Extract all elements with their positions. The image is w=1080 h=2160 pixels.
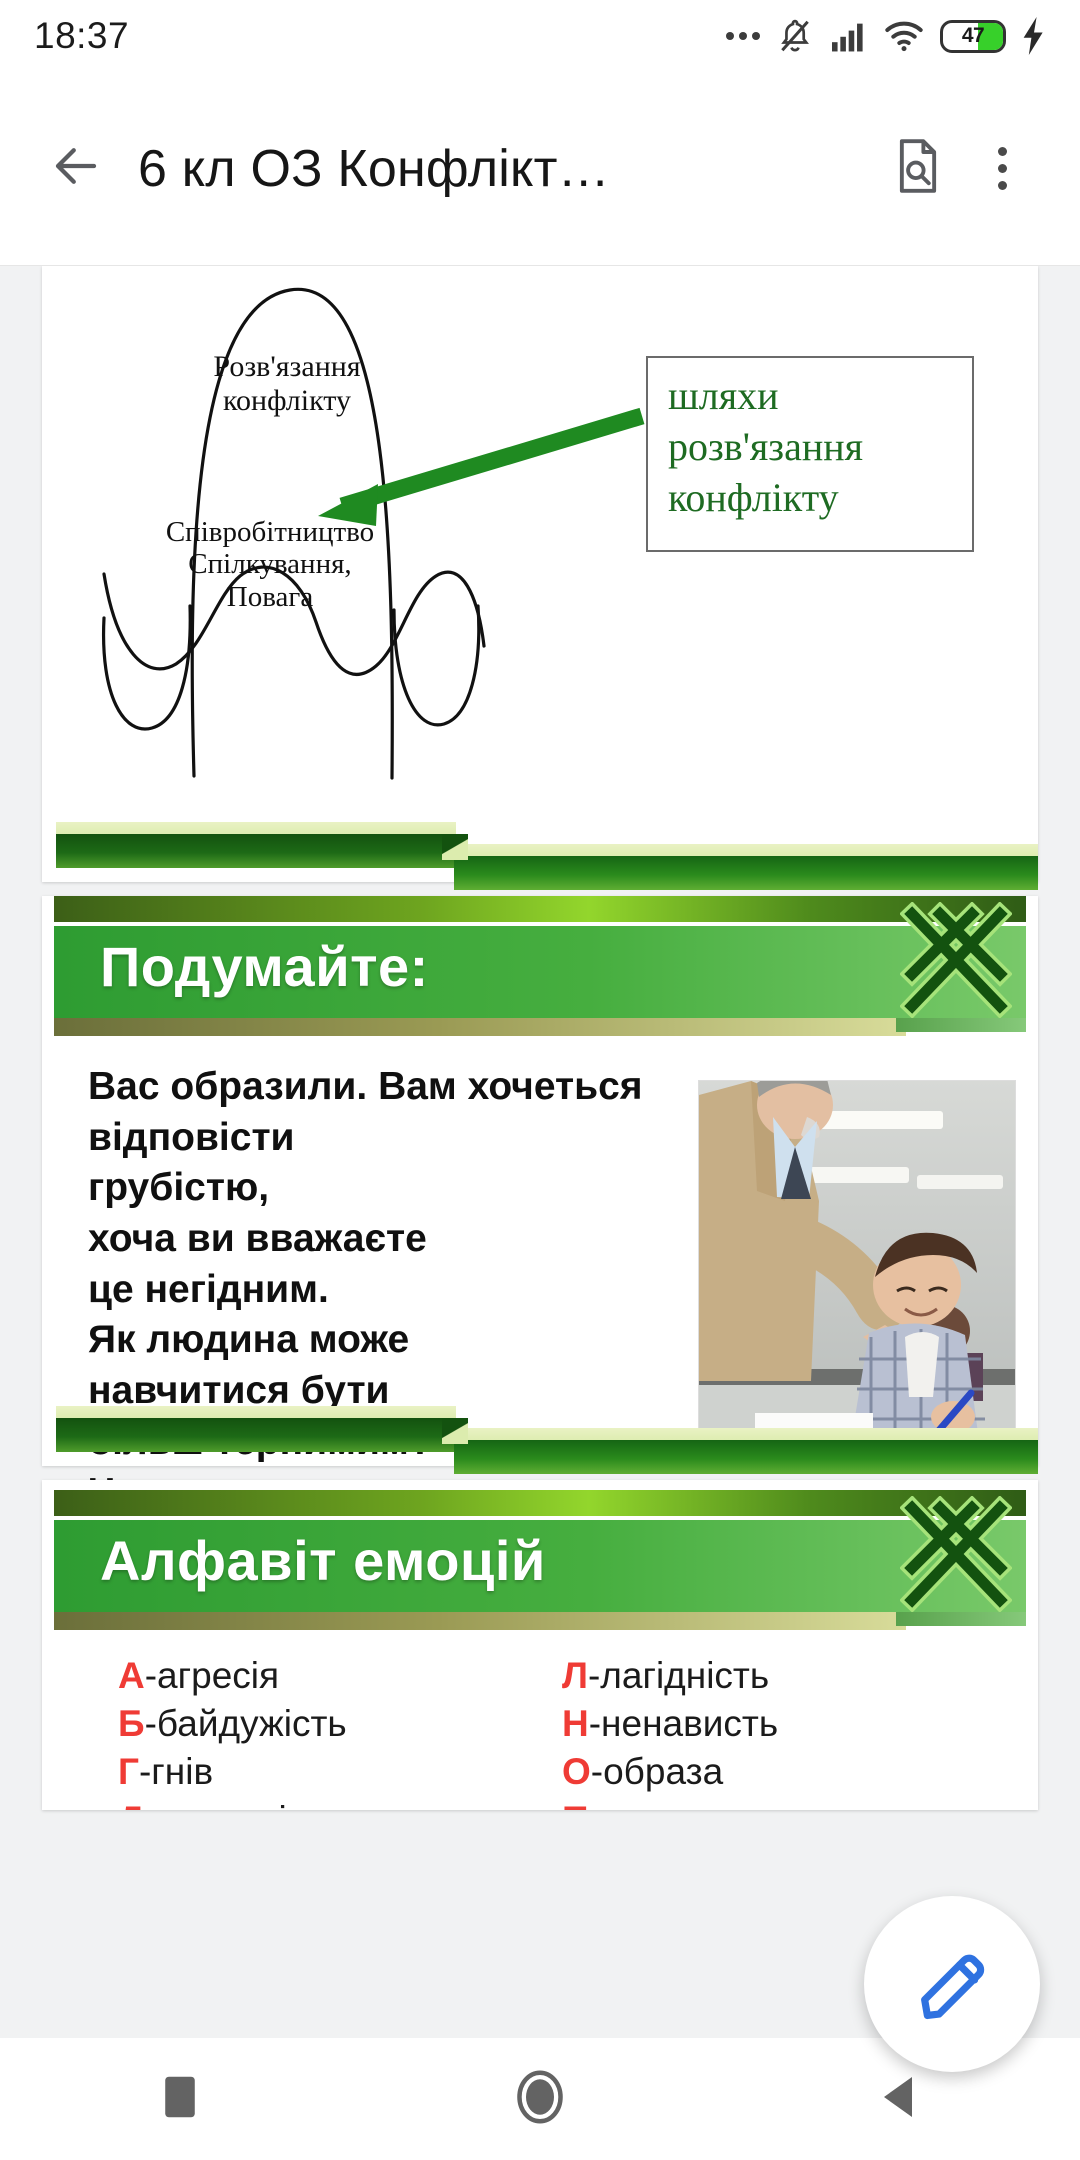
callout-line3: конфлікту — [668, 472, 952, 523]
emotion-letter: Л — [562, 1655, 588, 1696]
emotion-word: -ненависть — [589, 1703, 778, 1744]
bell-muted-icon — [776, 17, 814, 55]
emotion-letter: Г — [118, 1751, 139, 1792]
list-item: Г-гнів — [118, 1748, 347, 1796]
slide-wave-diagram[interactable]: Розв'язання конфлікту Співробітництво Сп… — [42, 266, 1038, 882]
list-item: Б-байдужість — [118, 1700, 347, 1748]
question-line-5: Як людина може — [88, 1315, 688, 1366]
question-line-1: Вас образили. Вам хочеться відповісти — [88, 1062, 688, 1163]
status-bar: 18:37 — [0, 0, 1080, 72]
search-document-button[interactable] — [876, 127, 960, 211]
battery-icon: 47 — [940, 20, 1006, 53]
emotion-word: -байдужість — [145, 1703, 347, 1744]
page-title: 6 кл ОЗ Конфлікт… — [138, 139, 876, 199]
slide-header-bar: Подумайте: — [54, 896, 1026, 1042]
document-search-icon — [892, 138, 944, 199]
pencil-edit-icon — [911, 1941, 993, 2028]
emotion-word: -гнів — [139, 1751, 213, 1792]
document-scroll-area[interactable]: Розв'язання конфлікту Співробітництво Сп… — [0, 266, 1080, 2038]
question-line-2: грубістю, — [88, 1163, 688, 1214]
slide-footer-ribbon — [56, 822, 1038, 872]
diagram-label-cooperation-line3: Повага — [120, 581, 420, 613]
emotion-word: -образа — [591, 1751, 723, 1792]
emotion-word: -агресія — [145, 1655, 279, 1696]
emotion-word: -депресія — [144, 1799, 306, 1810]
charging-bolt-icon — [1022, 17, 1046, 55]
home-button[interactable] — [480, 2039, 600, 2159]
status-time: 18:37 — [34, 15, 129, 57]
slide-header-title: Подумайте: — [100, 934, 429, 999]
emotion-letter: Б — [118, 1703, 145, 1744]
woven-x-ornament-icon — [900, 902, 1012, 1018]
green-arrow-icon — [318, 416, 642, 526]
diagram-label-cooperation: Співробітництво Спілкування, Повага — [120, 516, 420, 613]
slide-alfavit-emociy[interactable]: Алфавіт емоцій А-агресія — [42, 1480, 1038, 1810]
square-recents-icon — [161, 2073, 199, 2126]
slide-header-bar: Алфавіт емоцій — [54, 1490, 1026, 1636]
more-vertical-icon — [998, 147, 1007, 190]
list-item: П-пристрасть — [562, 1796, 794, 1810]
edit-fab-button[interactable] — [864, 1896, 1040, 2072]
status-icons: 47 — [726, 17, 1046, 55]
woven-x-ornament-icon — [900, 1496, 1012, 1612]
callout-line1: шляхи — [668, 370, 952, 421]
slide-footer-ribbon — [56, 1406, 1038, 1456]
slide-header-title: Алфавіт емоцій — [100, 1528, 546, 1593]
slide-podumayte[interactable]: Подумайте: Вас образили. Вам хочеться ві… — [42, 896, 1038, 1466]
emotion-letter: А — [118, 1655, 145, 1696]
recents-button[interactable] — [120, 2039, 240, 2159]
emotion-letter: Н — [562, 1703, 589, 1744]
slide-body: Вас образили. Вам хочеться відповісти гр… — [42, 1056, 1038, 1436]
more-dots-icon — [726, 32, 760, 40]
list-item: Л-лагідність — [562, 1652, 794, 1700]
emotion-word: -пристрасть — [589, 1799, 794, 1810]
diagram-label-cooperation-line1: Співробітництво — [120, 516, 420, 548]
arrow-left-icon — [49, 139, 103, 198]
diagram-label-resolution: Розв'язання конфлікту — [152, 350, 422, 417]
battery-percent: 47 — [943, 24, 1003, 48]
list-item: Д-депресія — [118, 1796, 347, 1810]
triangle-back-icon — [880, 2073, 920, 2126]
emotion-letter: П — [562, 1799, 589, 1810]
question-line-4: це негідним. — [88, 1265, 688, 1316]
back-button[interactable] — [36, 129, 116, 209]
signal-bars-icon — [830, 19, 868, 53]
app-bar: 6 кл ОЗ Конфлікт… — [0, 72, 1080, 266]
list-item: А-агресія — [118, 1652, 347, 1700]
diagram-label-resolution-line2: конфлікту — [152, 384, 422, 418]
list-item: Н-ненависть — [562, 1700, 794, 1748]
overflow-menu-button[interactable] — [960, 127, 1044, 211]
emotion-alphabet-list: А-агресія Б-байдужість Г-гнів Д-депресія… — [42, 1652, 1038, 1802]
emotion-column-left: А-агресія Б-байдужість Г-гнів Д-депресія — [118, 1652, 347, 1810]
wifi-icon — [884, 19, 924, 53]
circle-home-icon — [515, 2069, 565, 2130]
emotion-word: -лагідність — [588, 1655, 769, 1696]
emotion-column-right: Л-лагідність Н-ненависть О-образа П-прис… — [562, 1652, 794, 1810]
question-line-3: хоча ви вважаєте — [88, 1214, 688, 1265]
classroom-photo — [698, 1080, 1016, 1440]
diagram-label-resolution-line1: Розв'язання — [152, 350, 422, 384]
emotion-letter: О — [562, 1751, 591, 1792]
list-item: О-образа — [562, 1748, 794, 1796]
diagram-label-cooperation-line2: Спілкування, — [120, 548, 420, 580]
emotion-letter: Д — [118, 1799, 144, 1810]
callout-box: шляхи розв'язання конфлікту — [646, 356, 974, 552]
callout-line2: розв'язання — [668, 421, 952, 472]
